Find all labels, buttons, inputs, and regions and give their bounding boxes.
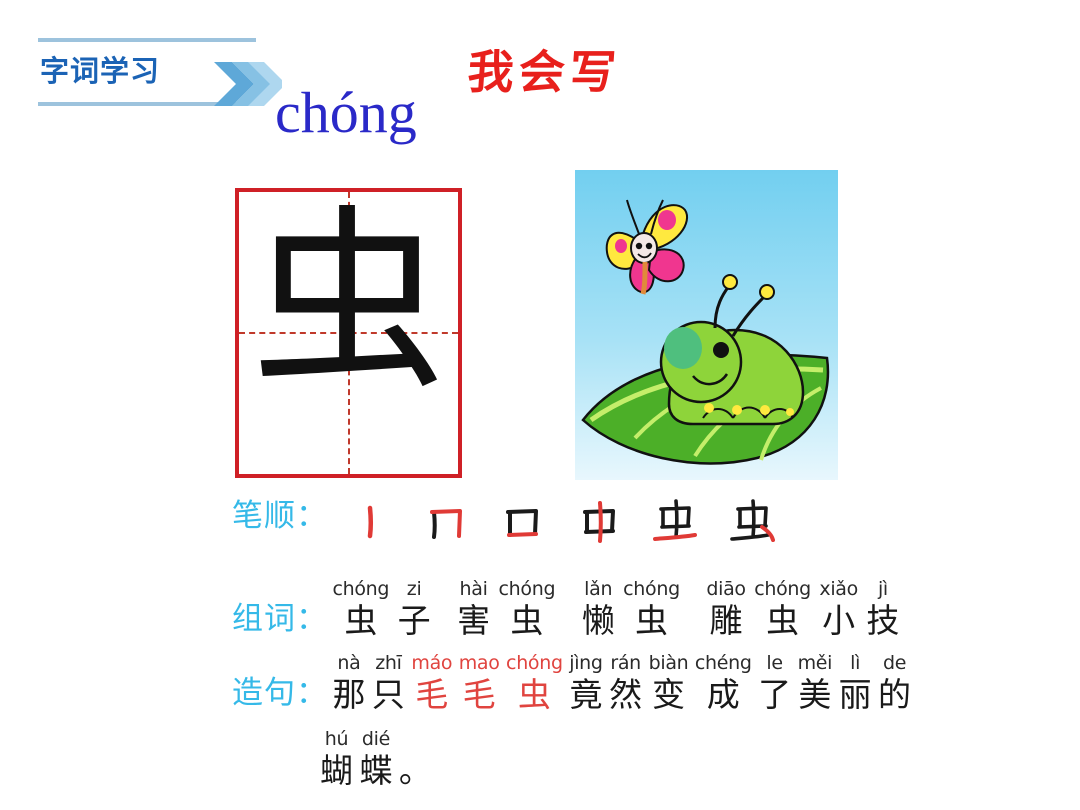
- example-sentence-row: 造句： nà 那 zhī 只 máo 毛 mao 毛 chóng 虫: [232, 652, 913, 714]
- sentence-char: jìng 竟: [569, 652, 602, 714]
- stroke-order-label: 笔顺：: [232, 498, 328, 534]
- sentence-char-highlight: mao 毛: [459, 652, 500, 714]
- sentence-char: dié 蝶: [359, 728, 392, 790]
- word-char: jì 技: [866, 578, 899, 640]
- stroke-step-4: [564, 500, 636, 544]
- example-sentence-label: 造句：: [232, 667, 328, 714]
- sentence-char-highlight: chóng 虫: [506, 652, 563, 714]
- word-char: lǎn 懒: [582, 578, 615, 640]
- sentence-char: biàn 变: [649, 652, 689, 714]
- example-sentence-line-1: nà 那 zhī 只 máo 毛 mao 毛 chóng 虫 jìng 竟: [332, 652, 913, 714]
- sentence-char: 。: [399, 752, 432, 790]
- word-char: zi 子: [398, 578, 431, 640]
- sentence-char: de 的: [878, 652, 911, 714]
- word-char: chóng 虫: [332, 578, 389, 640]
- illustration-butterfly-caterpillar: [575, 170, 838, 480]
- stroke-step-1: [334, 502, 406, 542]
- stroke-order-steps: [334, 499, 788, 545]
- slide-canvas: 字词学习 chóng 我会写 虫: [0, 0, 1080, 810]
- stroke-step-3: [487, 502, 559, 542]
- sentence-char: zhī 只: [372, 652, 405, 714]
- word-groups-label: 组词：: [232, 593, 328, 640]
- double-chevron-right-icon: [212, 58, 282, 110]
- page-title: 我会写: [466, 36, 624, 102]
- word-char: chóng 虫: [754, 578, 811, 640]
- stroke-order-row: 笔顺：: [232, 490, 789, 545]
- sentence-char-highlight: máo 毛: [411, 652, 452, 714]
- target-character: 虫: [239, 200, 458, 405]
- word-char: xiǎo 小: [819, 578, 858, 640]
- word-group: hài 害 chóng 虫: [457, 578, 555, 640]
- headword-pinyin: chóng: [275, 84, 417, 142]
- word-char: hài 害: [457, 578, 490, 640]
- word-char: chóng 虫: [499, 578, 556, 640]
- sentence-char: nà 那: [332, 652, 365, 714]
- stroke-step-2: [411, 502, 483, 542]
- sentence-char: měi 美: [798, 652, 833, 714]
- stroke-step-6: [717, 499, 789, 545]
- sentence-char: rán 然: [609, 652, 642, 714]
- word-groups-row: 组词： chóng 虫 zi 子 hài 害 chóng: [232, 578, 899, 640]
- word-group: chóng 虫 zi 子: [332, 578, 430, 640]
- character-grid-box: 虫: [235, 188, 462, 478]
- word-char: diāo 雕: [706, 578, 745, 640]
- section-label: 字词学习: [40, 48, 160, 90]
- banner-rule-top: [38, 38, 256, 42]
- stroke-step-5: [640, 499, 712, 545]
- example-sentence-line-2: hú 蝴 dié 蝶 。: [320, 728, 434, 790]
- word-char: chóng 虫: [623, 578, 680, 640]
- word-group: diāo 雕 chóng 虫 xiǎo 小 jì 技: [706, 578, 899, 640]
- word-groups-list: chóng 虫 zi 子 hài 害 chóng 虫: [332, 578, 899, 640]
- word-group: lǎn 懒 chóng 虫: [582, 578, 680, 640]
- sentence-char: le 了: [758, 652, 791, 714]
- sentence-char: lì 丽: [839, 652, 872, 714]
- sentence-char: chéng 成: [695, 652, 752, 714]
- sentence-char: hú 蝴: [320, 728, 353, 790]
